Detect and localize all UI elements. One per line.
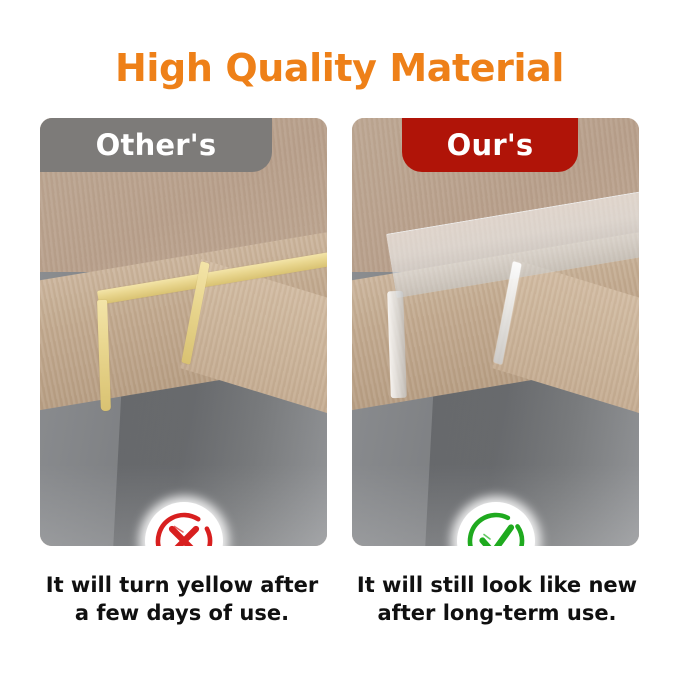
caption-other: It will turn yellow after a few days of … <box>22 571 342 627</box>
badge-ours: Our's <box>402 118 578 172</box>
caption-ours: It will still look like new after long-t… <box>337 571 657 627</box>
comparison-panel-ours: Our's <box>352 118 639 546</box>
badge-others: Other's <box>40 118 272 172</box>
caption-other-line1: It will turn yellow after <box>22 571 342 599</box>
caption-ours-line1: It will still look like new <box>337 571 657 599</box>
product-photo-ours <box>352 118 639 546</box>
page-title: High Quality Material <box>0 46 679 90</box>
caption-ours-line2: after long-term use. <box>337 599 657 627</box>
comparison-panel-other: Other's <box>40 118 327 546</box>
caption-other-line2: a few days of use. <box>22 599 342 627</box>
product-photo-other <box>40 118 327 546</box>
